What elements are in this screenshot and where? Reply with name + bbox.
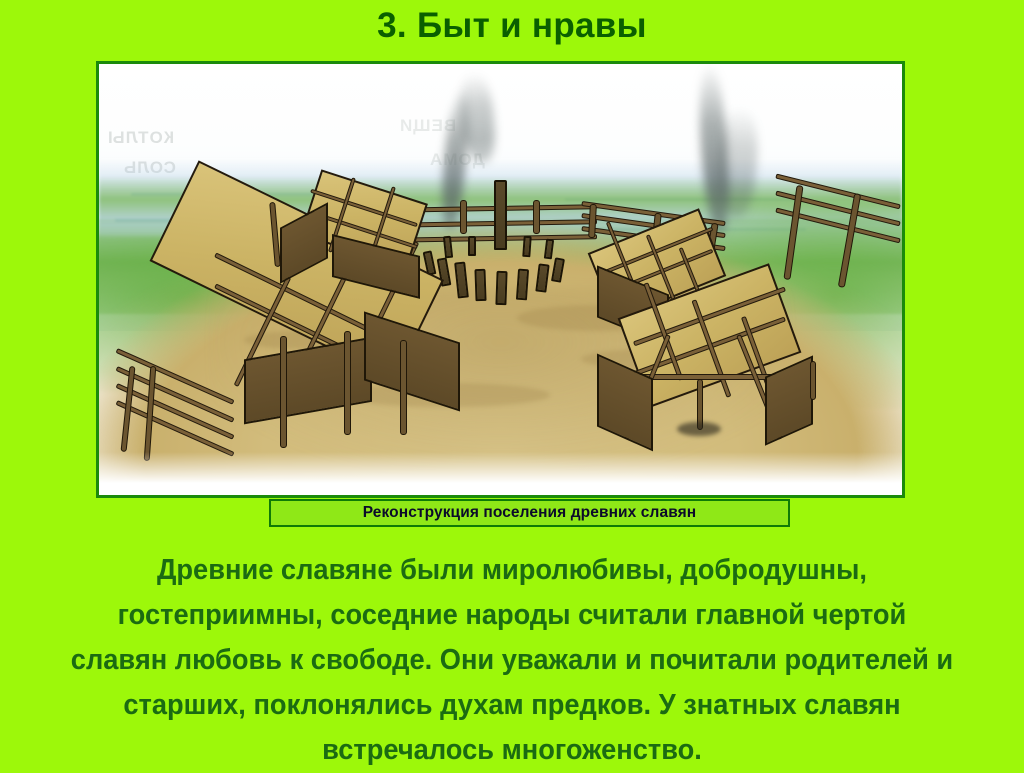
body-paragraph: Древние славяне были миролюбивы, доброду… — [70, 548, 954, 773]
shrine-post — [468, 236, 476, 256]
house-support-post — [280, 336, 287, 448]
palisade-post — [460, 200, 467, 234]
image-caption-text: Реконструкция поселения древних славян — [363, 504, 696, 522]
house-support-post — [400, 340, 407, 435]
shrine-post — [522, 236, 531, 258]
wooden-idol — [494, 180, 507, 250]
bleed-text-1: КОТЛЫ — [107, 128, 174, 148]
corner-post — [810, 361, 816, 400]
image-caption-box: Реконструкция поселения древних славян — [269, 499, 790, 527]
shrine-post — [515, 268, 528, 300]
page-title: 3. Быт и нравы — [0, 4, 1024, 48]
shrine-post — [495, 271, 507, 305]
palisade-post — [533, 200, 540, 234]
shrine-post — [474, 269, 486, 301]
slide: 3. Быт и нравы КОТЛЫ СОЛЬ ВЕЩИ ДОМА — [0, 0, 1024, 767]
settlement-illustration: КОТЛЫ СОЛЬ ВЕЩИ ДОМА — [99, 64, 902, 495]
bottom-fade — [99, 452, 902, 495]
house-support-post — [344, 331, 351, 434]
illustration-frame: КОТЛЫ СОЛЬ ВЕЩИ ДОМА — [96, 61, 905, 498]
hearth — [677, 422, 721, 436]
